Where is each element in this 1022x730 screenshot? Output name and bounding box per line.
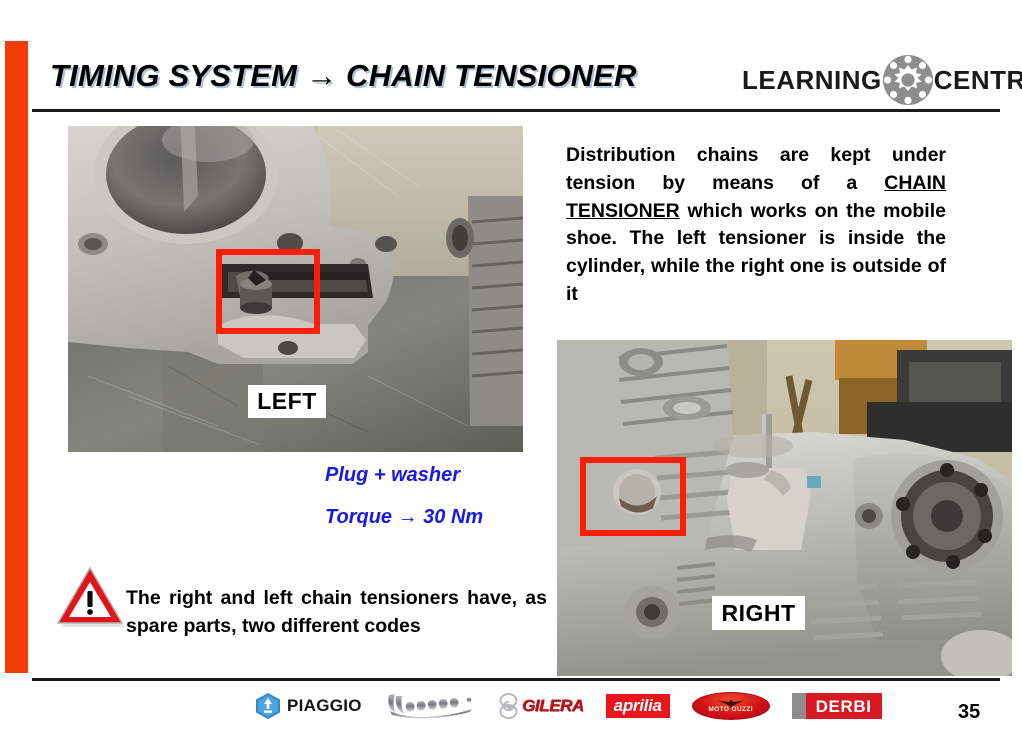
moto-guzzi-eagle-icon: MOTO GUZZI — [692, 692, 770, 720]
aprilia-wordmark: aprilia — [614, 697, 662, 714]
brand-moto-guzzi: MOTO GUZZI — [692, 689, 770, 723]
note-torque: Torque → 30 Nm — [325, 506, 483, 529]
learning-centre-logo: LEARNING CENTRE — [742, 54, 1000, 106]
accent-bar — [5, 41, 28, 673]
photo-label-right: RIGHT — [712, 596, 805, 630]
gear-icon — [882, 54, 934, 106]
piaggio-wordmark: PIAGGIO — [287, 696, 362, 716]
brand-piaggio: PIAGGIO — [255, 689, 362, 723]
warning-text: The right and left chain tensioners have… — [126, 585, 547, 640]
gilera-wordmark: GILERA — [522, 696, 584, 716]
description-paragraph: Distribution chains are kept under tensi… — [566, 142, 946, 309]
brand-gilera: GILERA — [498, 689, 584, 723]
logo-word-learning: LEARNING — [742, 67, 882, 93]
warning-triangle-icon — [56, 566, 124, 628]
brand-derbi: DERBI — [792, 689, 882, 723]
brand-logo-strip: PIAGGIO — [255, 686, 815, 726]
derbi-wordmark: DERBI — [816, 698, 872, 715]
page-title: TIMING SYSTEM → CHAIN TENSIONER — [50, 58, 637, 94]
derbi-wordmark-icon: DERBI — [792, 693, 882, 719]
aprilia-wordmark-icon: aprilia — [606, 694, 670, 718]
note-plug-washer: Plug + washer — [325, 464, 460, 487]
brand-aprilia: aprilia — [606, 689, 670, 723]
derbi-plate: DERBI — [806, 693, 882, 719]
header-divider — [32, 109, 1000, 112]
moto-guzzi-wordmark: MOTO GUZZI — [708, 707, 753, 714]
piaggio-hex-icon — [255, 692, 281, 720]
page-number: 35 — [958, 701, 980, 724]
logo-word-centre: CENTRE — [934, 67, 1022, 93]
slide-canvas: TIMING SYSTEM → CHAIN TENSIONER LEARNING — [0, 0, 1022, 730]
vespa-script-icon — [384, 691, 476, 721]
brand-vespa — [384, 689, 476, 723]
photo-label-left: LEFT — [248, 385, 326, 418]
derbi-edge — [792, 693, 806, 719]
footer-divider — [32, 678, 1000, 681]
gilera-mark-icon — [498, 693, 519, 719]
